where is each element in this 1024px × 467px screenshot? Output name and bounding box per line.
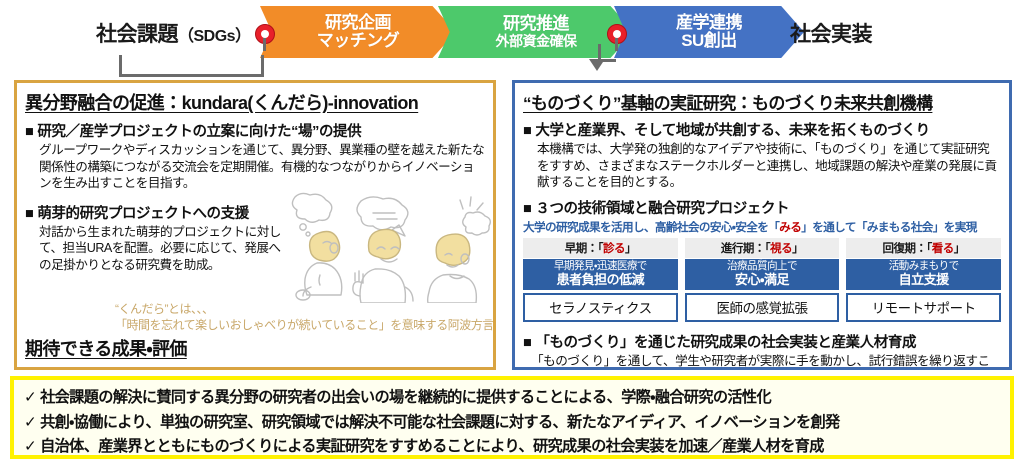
square-bullet-icon: ■ xyxy=(523,201,531,217)
tech-band-line2-early: 患者負担の低減 xyxy=(523,273,678,288)
tech-band-early: 早期発見・迅速医療で 患者負担の低減 xyxy=(523,259,678,290)
right-panel-monozukuri: “ものづくり”基軸の実証研究：ものづくり未来共創機構 ■大学と産業界、そして地域… xyxy=(512,80,1012,370)
summary-line-3-text: 自治体、産業界とともにものづくりによる実証研究をすすめることにより、研究成果の社… xyxy=(40,438,824,455)
square-bullet-icon: ■ xyxy=(523,123,531,139)
tech-phase-label-early: 早期：「診る」 xyxy=(523,238,678,258)
people-talking-illustration xyxy=(287,191,495,303)
tech-band-line2-recovery: 自立支援 xyxy=(846,273,1001,288)
tech-column-progress[interactable]: 進行期：「視る」 治療品質向上で 安心・満足 医師の感覚拡張 xyxy=(685,238,840,322)
left-panel-title: 異分野融合の促進：kundara(くんだら)-innovation xyxy=(25,89,493,115)
tech-band-line1-progress: 治療品質向上で xyxy=(685,261,840,273)
map-pin-icon-right xyxy=(607,24,627,44)
flow-step-3-line2: SU創出 xyxy=(681,32,737,50)
right-bullet-1-head-text: 大学と産業界、そして地域が共創する、未来を拓くものづくり xyxy=(535,123,929,139)
tech-band-progress: 治療品質向上で 安心・満足 xyxy=(685,259,840,290)
process-flow-banner: 社会課題（SDGs） 研究企画 マッチング 研究推進 外部資金確保 産学連携 S… xyxy=(0,0,1024,72)
check-icon: ✓ xyxy=(24,414,36,431)
tech-band-recovery: 活動みまもりで 自立支援 xyxy=(846,259,1001,290)
kundara-note-line1: “くんだら”とは、、、 xyxy=(115,301,494,317)
tech-section-subtitle: 大学の研究成果を活用し、高齢社会の安心・安全を「みる」を通して「みまもる社会」を… xyxy=(523,219,1009,235)
tech-name-recovery[interactable]: リモートサポート xyxy=(846,293,1001,322)
tech-subtitle-pre: 大学の研究成果を活用し、高齢社会の安心・安全を「 xyxy=(523,221,779,234)
tech-phase-label-recovery: 回復期：「看る」 xyxy=(846,238,1001,258)
tech-phase-pre-progress: 進行期：「 xyxy=(721,243,770,255)
right-bullet-2-head-text: 「ものづくり」を通じた研究成果の社会実装と産業人材育成 xyxy=(535,335,916,351)
tech-phase-post-progress: 」 xyxy=(792,243,803,255)
tech-phase-kanji-progress: 視る xyxy=(770,243,792,255)
flow-step-3-line1: 産学連携 xyxy=(676,14,742,32)
tech-name-progress[interactable]: 医師の感覚拡張 xyxy=(685,293,840,322)
square-bullet-icon: ■ xyxy=(523,335,531,351)
right-bullet-2-body: 「ものづくり」を通して、学生や研究者が実際に手を動かし、試行錯誤を繰り返すことで… xyxy=(531,353,1001,370)
tech-column-recovery[interactable]: 回復期：「看る」 活動みまもりで 自立支援 リモートサポート xyxy=(846,238,1001,322)
flow-start-text: 社会課題 xyxy=(96,23,178,46)
expected-outcomes-summary-box: ✓社会課題の解決に賛同する異分野の研究者の出会いの場を継続的に提供することによる… xyxy=(10,376,1014,459)
flow-step-1-line1: 研究企画 xyxy=(325,14,391,32)
tech-phase-kanji-early: 診る xyxy=(603,243,625,255)
square-bullet-icon: ■ xyxy=(25,206,33,222)
summary-line-1-text: 社会課題の解決に賛同する異分野の研究者の出会いの場を継続的に提供することによる、… xyxy=(40,389,771,406)
flow-step-3[interactable]: 産学連携 SU創出 xyxy=(614,6,804,58)
expected-outcomes-title: 期待できる成果・評価 xyxy=(25,335,187,361)
summary-line-2-text: 共創・協働により、単独の研究室、研究領域では解決不可能な社会課題に対する、新たな… xyxy=(40,414,840,431)
flow-end-label: 社会実装 xyxy=(790,18,872,48)
right-bullet-1-head: ■大学と産業界、そして地域が共創する、未来を拓くものづくり xyxy=(523,119,1009,140)
tech-domains-grid: 早期：「診る」 早期発見・迅速医療で 患者負担の低減 セラノスティクス 進行期：… xyxy=(523,238,1001,322)
tech-band-line1-recovery: 活動みまもりで xyxy=(846,261,1001,273)
check-icon: ✓ xyxy=(24,438,36,455)
flow-step-1-line2: マッチング xyxy=(317,32,400,50)
left-panel-kundara-innovation: 異分野融合の促進：kundara(くんだら)-innovation ■研究／産学… xyxy=(14,80,496,370)
connector-arrow-icon-right xyxy=(589,59,605,71)
tech-column-early[interactable]: 早期：「診る」 早期発見・迅速医療で 患者負担の低減 セラノスティクス xyxy=(523,238,678,322)
right-bullet-1-body: 本機構では、大学発の独創的なアイデアや技術に、「ものづくり」を通じて実証研究をす… xyxy=(537,141,1001,191)
right-panel-title: “ものづくり”基軸の実証研究：ものづくり未来共創機構 xyxy=(523,89,1009,114)
tech-phase-kanji-recovery: 看る xyxy=(932,243,954,255)
tech-band-line1-early: 早期発見・迅速医療で xyxy=(523,261,678,273)
tech-phase-post-early: 」 xyxy=(625,243,636,255)
left-bullet-2-body: 対話から生まれた萌芽的プロジェクトに対して、担当URAを配置。必要に応じて、発展… xyxy=(39,224,284,274)
tech-band-line2-progress: 安心・満足 xyxy=(685,273,840,288)
tech-phase-pre-recovery: 回復期：「 xyxy=(883,243,932,255)
square-bullet-icon: ■ xyxy=(25,124,33,140)
check-icon: ✓ xyxy=(24,389,36,406)
map-pin-icon-left xyxy=(255,24,275,44)
flow-start-label: 社会課題（SDGs） xyxy=(96,18,251,48)
left-bullet-1-head: ■研究／産学プロジェクトの立案に向けた“場”の提供 xyxy=(25,120,493,141)
right-bullet-2-head: ■「ものづくり」を通じた研究成果の社会実装と産業人材育成 xyxy=(523,331,1009,352)
tech-name-early[interactable]: セラノスティクス xyxy=(523,293,678,322)
summary-line-3: ✓自治体、産業界とともにものづくりによる実証研究をすすめることにより、研究成果の… xyxy=(24,435,1000,460)
summary-line-2: ✓共創・協働により、単独の研究室、研究領域では解決不可能な社会課題に対する、新た… xyxy=(24,411,1000,436)
flow-step-2-line2: 外部資金確保 xyxy=(496,34,577,49)
flow-start-sdgs: （SDGs） xyxy=(178,28,251,45)
tech-subtitle-post: 」を通して「みまもる社会」を実現 xyxy=(801,221,977,234)
tech-subtitle-highlight: みる xyxy=(779,221,801,234)
flow-step-1[interactable]: 研究企画 マッチング xyxy=(260,6,456,58)
tech-phase-pre-early: 早期：「 xyxy=(565,243,603,255)
left-bullet-2-head-text: 萌芽的研究プロジェクトへの支援 xyxy=(37,206,249,222)
left-bullet-1-head-text: 研究／産学プロジェクトの立案に向けた“場”の提供 xyxy=(37,124,361,140)
tech-phase-post-recovery: 」 xyxy=(954,243,965,255)
tech-section-head: ■３つの技術領域と融合研究プロジェクト xyxy=(523,197,1009,218)
left-bullet-1-body: グループワークやディスカッションを通じて、異分野、異業種の壁を越えた新たな関係性… xyxy=(39,142,485,192)
connector-bracket-left xyxy=(119,55,264,77)
kundara-note-line2: 「時間を忘れて楽しいおしゃべりが続いていること」を意味する阿波方言 xyxy=(115,317,494,333)
flow-step-2-line1: 研究推進 xyxy=(503,15,569,33)
tech-section-head-text: ３つの技術領域と融合研究プロジェクト xyxy=(535,201,789,217)
kundara-meaning-note: “くんだら”とは、、、 「時間を忘れて楽しいおしゃべりが続いていること」を意味す… xyxy=(115,301,494,333)
tech-phase-label-progress: 進行期：「視る」 xyxy=(685,238,840,258)
summary-line-1: ✓社会課題の解決に賛同する異分野の研究者の出会いの場を継続的に提供することによる… xyxy=(24,386,1000,411)
